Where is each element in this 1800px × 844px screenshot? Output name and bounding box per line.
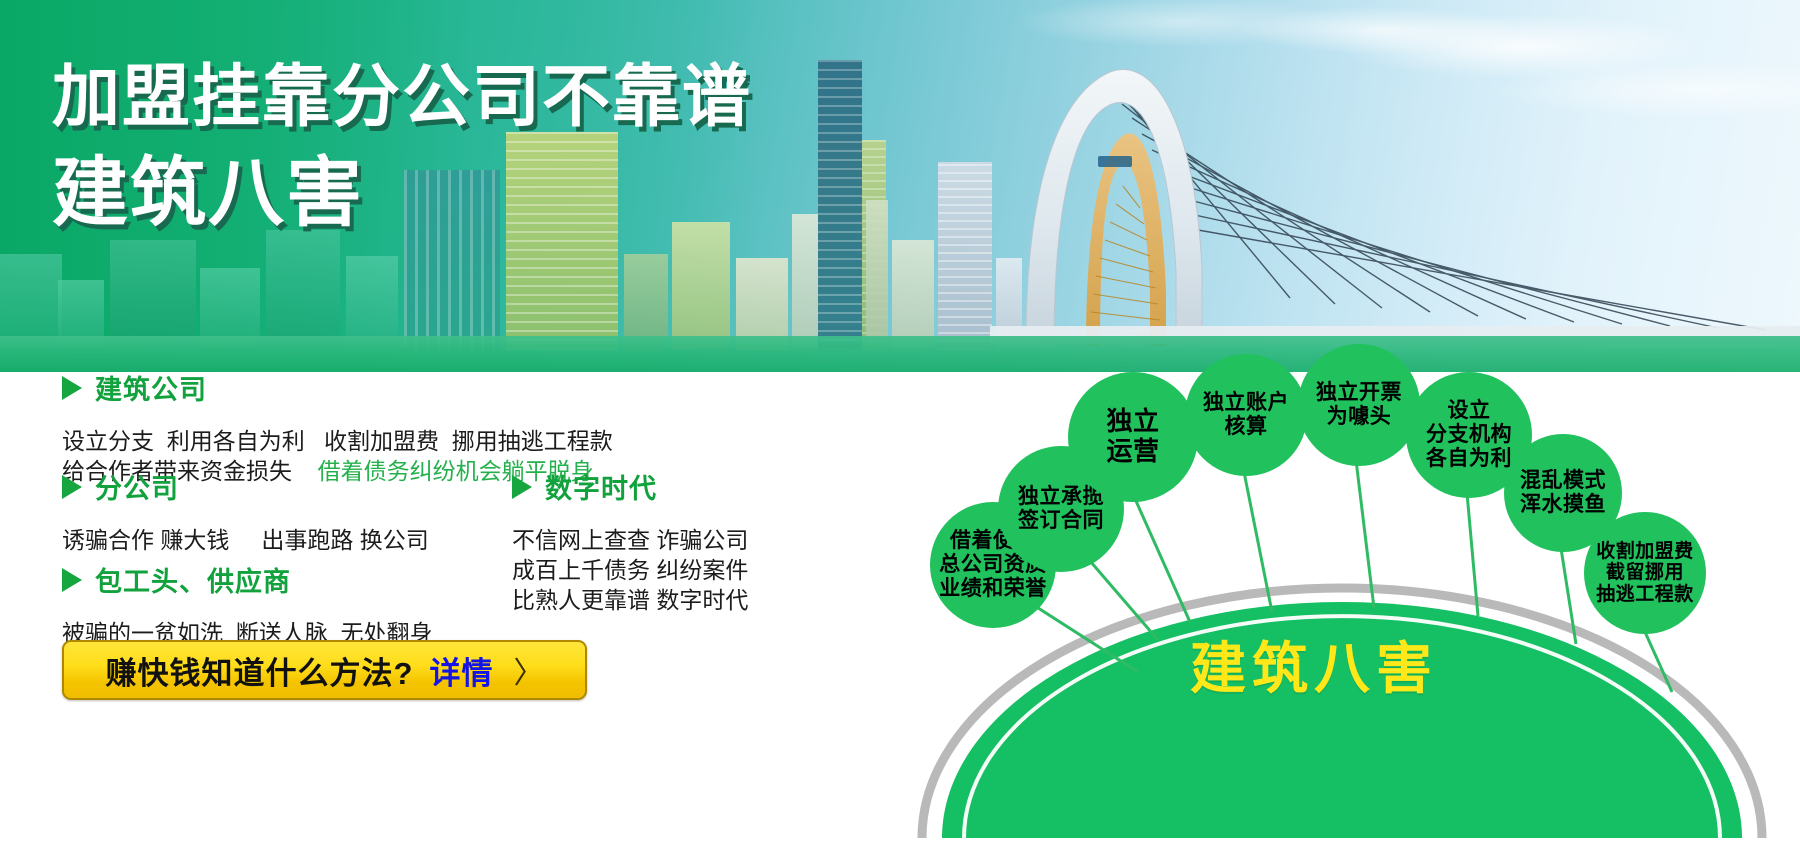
diagram-column: 借着使用 总公司资质 业绩和荣誉 独立承揽 签订合同 独立 运营 独立账户 核算…: [900, 372, 1800, 844]
bubble-label: 独立 运营: [1106, 407, 1159, 466]
hero-banner: 加盟挂靠分公司不靠谱 建筑八害: [0, 0, 1800, 372]
body-line: 不信网上查查 诈骗公司: [512, 525, 748, 555]
bubble-item[interactable]: 独立账户 核算: [1185, 354, 1307, 476]
section-heading-label: 分公司: [95, 467, 179, 506]
hero-title: 加盟挂靠分公司不靠谱 建筑八害: [52, 54, 752, 242]
section-body: 诱骗合作 赚大钱 出事跑路 换公司: [62, 525, 429, 555]
body-line: 成百上千债务 纠纷案件: [512, 555, 748, 585]
section-contractor-supplier: 包工头、供应商 被骗的一贫如洗 断送人脉 无处翻身: [62, 560, 433, 648]
cta-button[interactable]: 赚快钱知道什么方法? 详情 〉: [62, 640, 587, 700]
body-text: 诱骗合作 赚大钱 出事跑路 换公司: [62, 527, 429, 553]
section-heading: 分公司: [62, 467, 429, 506]
bubble-item[interactable]: 收割加盟费 截留挪用 抽逃工程款: [1584, 512, 1706, 634]
section-heading-label: 包工头、供应商: [95, 560, 291, 599]
bridge-illustration: [990, 60, 1800, 350]
left-text-column: 建筑公司 设立分支 利用各自为利 收割加盟费 挪用抽逃工程款 给合作者带来资金损…: [0, 372, 820, 844]
bubble-diagram: 借着使用 总公司资质 业绩和荣誉 独立承揽 签订合同 独立 运营 独立账户 核算…: [900, 372, 1800, 844]
triangle-bullet-icon: [62, 475, 82, 499]
bubble-label: 收割加盟费 截留挪用 抽逃工程款: [1596, 541, 1694, 606]
section-heading: 数字时代: [512, 467, 748, 506]
hero-title-line2: 建筑八害: [52, 146, 752, 242]
bubble-label: 独立账户 核算: [1203, 391, 1289, 439]
building-block: [818, 60, 862, 350]
building-block: [866, 200, 888, 350]
hero-title-line1: 加盟挂靠分公司不靠谱: [52, 54, 752, 140]
section-heading: 包工头、供应商: [62, 560, 433, 599]
content-area: 建筑公司 设立分支 利用各自为利 收割加盟费 挪用抽逃工程款 给合作者带来资金损…: [0, 372, 1800, 844]
chevron-right-icon: 〉: [513, 648, 543, 692]
triangle-bullet-icon: [62, 376, 82, 400]
section-branch-company: 分公司 诱骗合作 赚大钱 出事跑路 换公司: [62, 467, 429, 555]
dome-center-label: 建筑八害: [1190, 624, 1438, 705]
body-text: 不信网上查查 诈骗公司: [512, 527, 748, 553]
bubble-item[interactable]: 独立 运营: [1068, 372, 1198, 502]
ground-strip: [0, 336, 1800, 372]
triangle-bullet-icon: [512, 475, 532, 499]
section-heading-label: 数字时代: [545, 467, 657, 506]
body-text: 成百上千债务 纠纷案件: [512, 557, 748, 583]
building-block: [110, 240, 196, 350]
bubble-item[interactable]: 独立开票 为噱头: [1298, 344, 1420, 466]
bubble-label: 独立开票 为噱头: [1316, 381, 1402, 429]
body-text: 比熟人更靠谱 数字时代: [512, 587, 748, 613]
cta-link-label[interactable]: 详情: [429, 648, 493, 693]
section-heading: 建筑公司: [62, 368, 613, 407]
bubble-label: 混乱模式 浑水摸鱼: [1520, 469, 1606, 517]
body-line: 比熟人更靠谱 数字时代: [512, 585, 748, 615]
section-heading-label: 建筑公司: [95, 368, 207, 407]
bubble-label: 独立承揽 签订合同: [1018, 485, 1104, 533]
body-line: 设立分支 利用各自为利 收割加盟费 挪用抽逃工程款: [62, 426, 613, 456]
section-body: 不信网上查查 诈骗公司 成百上千债务 纠纷案件 比熟人更靠谱 数字时代: [512, 525, 748, 615]
building-block: [938, 162, 992, 350]
cta-label: 赚快钱知道什么方法?: [106, 648, 414, 693]
building-block: [266, 230, 340, 350]
section-digital-era: 数字时代 不信网上查查 诈骗公司 成百上千债务 纠纷案件 比熟人更靠谱 数字时代: [512, 467, 748, 615]
bubble-label: 设立 分支机构 各自为利: [1426, 399, 1512, 471]
building-block: [892, 240, 934, 350]
triangle-bullet-icon: [62, 568, 82, 592]
body-text: 设立分支 利用各自为利 收割加盟费 挪用抽逃工程款: [62, 428, 613, 454]
body-line: 诱骗合作 赚大钱 出事跑路 换公司: [62, 525, 429, 555]
